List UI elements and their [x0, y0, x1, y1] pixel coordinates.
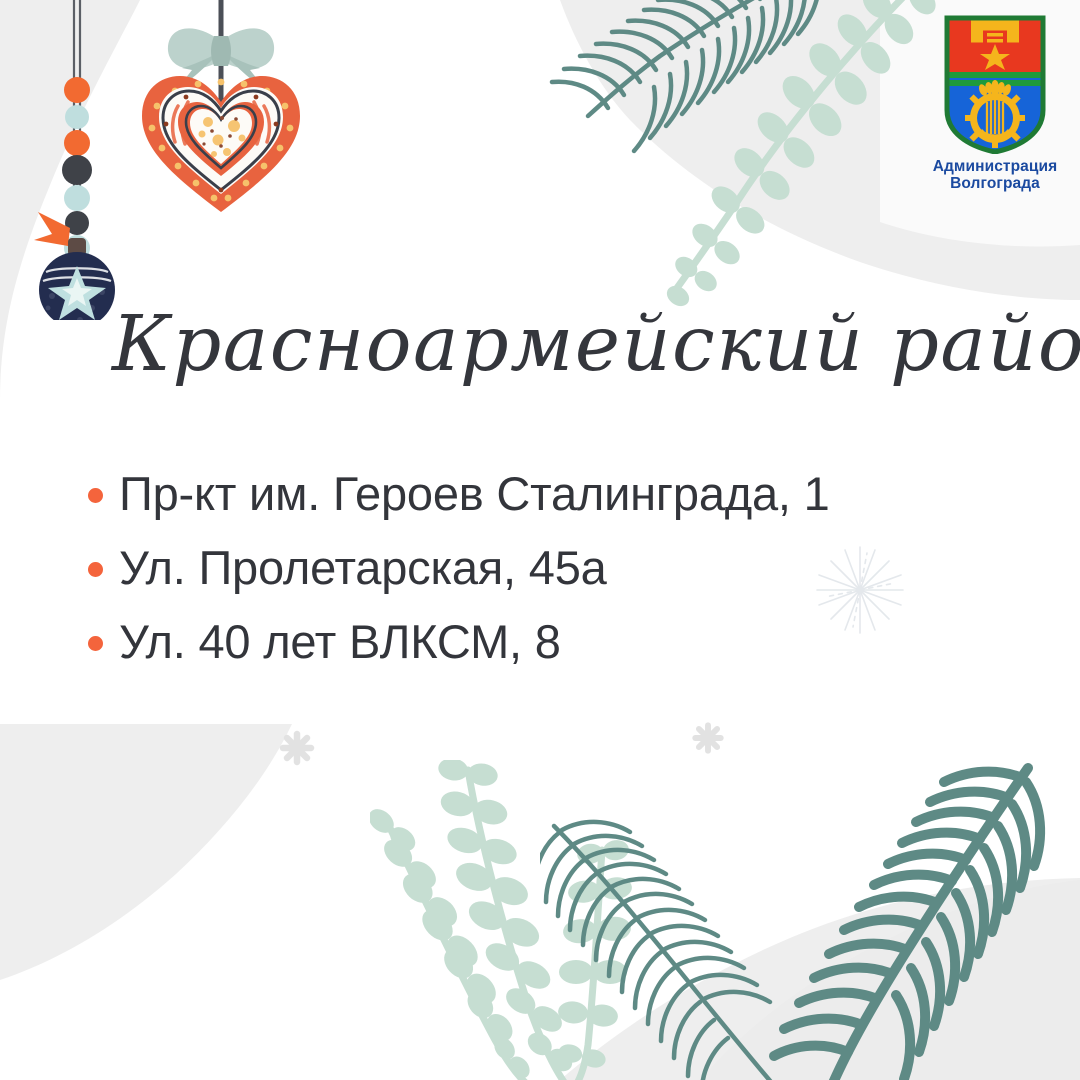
pine-branch-bottom-center [540, 810, 870, 1080]
bullet-icon [88, 488, 103, 503]
address-list: Пр-кт им. Героев Сталинграда, 1 Ул. Прол… [88, 456, 988, 678]
bullet-icon [88, 636, 103, 651]
bauble-flame [34, 212, 70, 246]
foliage-top-right [520, 0, 960, 310]
address-list-item: Ул. 40 лет ВЛКСМ, 8 [88, 604, 988, 678]
bead-string [62, 77, 92, 261]
address-text: Ул. Пролетарская, 45а [119, 544, 607, 591]
hanging-bauble-ornament [18, 0, 138, 320]
bullet-icon [88, 562, 103, 577]
address-list-item: Ул. Пролетарская, 45а [88, 530, 988, 604]
pine-branch-top-right [520, 0, 840, 160]
pine-branch-bottom-right [760, 760, 1080, 1080]
heart-shape [142, 76, 300, 212]
snowflake-icon-right [688, 718, 728, 758]
foliage-bottom-sage [370, 760, 710, 1080]
address-text: Пр-кт им. Героев Сталинграда, 1 [119, 470, 830, 517]
page-title: Красноармейский район [112, 306, 1003, 383]
address-text: Ул. 40 лет ВЛКСМ, 8 [119, 618, 561, 665]
logo-caption: Администрация Волгограда [925, 158, 1065, 193]
volgograd-coat-of-arms-icon [939, 14, 1051, 154]
ribbon-bow [168, 28, 274, 88]
hanging-heart-ornament [126, 0, 316, 224]
volgograd-administration-logo: Администрация Волгограда [925, 14, 1065, 193]
snowflake-icon-left [275, 726, 319, 770]
address-list-item: Пр-кт им. Героев Сталинграда, 1 [88, 456, 988, 530]
poster-canvas: Администрация Волгограда Красноармейский… [0, 0, 1080, 1080]
